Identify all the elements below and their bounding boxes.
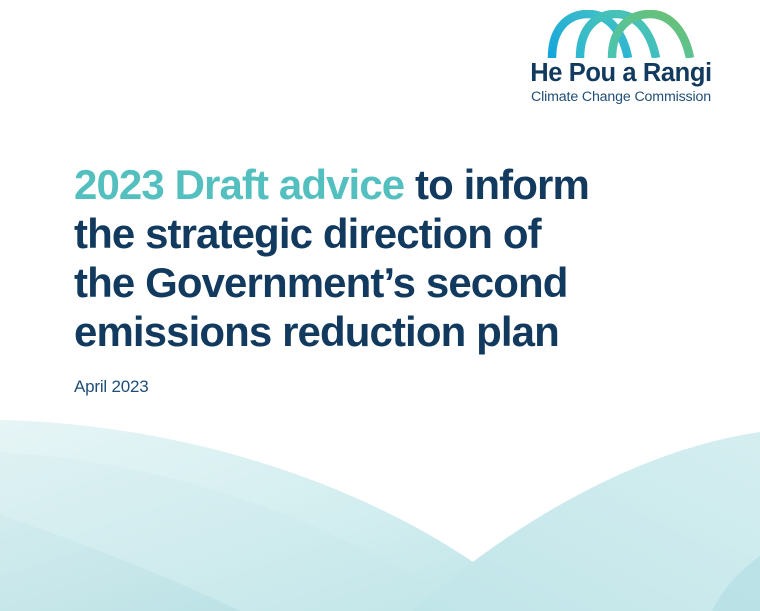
three-arcs-icon xyxy=(546,10,696,58)
page-title: 2023 Draft advice to inform the strategi… xyxy=(74,160,694,356)
wave-layer-1 xyxy=(0,420,560,611)
wave-layer-5 xyxy=(712,556,760,611)
wave-layer-4 xyxy=(412,432,760,611)
logo-wordmark: He Pou a Rangi xyxy=(526,60,716,88)
title-line-1-rest: to inform xyxy=(404,161,589,208)
title-accent-text: 2023 Draft advice xyxy=(74,161,404,208)
title-line-3: the Government’s second xyxy=(74,258,694,307)
organisation-logo: He Pou a Rangi Climate Change Commission xyxy=(526,10,716,106)
title-line-2: the strategic direction of xyxy=(74,209,694,258)
document-cover-page: He Pou a Rangi Climate Change Commission… xyxy=(0,0,760,611)
publication-date: April 2023 xyxy=(74,377,149,397)
title-line-4: emissions reduction plan xyxy=(74,307,694,356)
wave-layer-2 xyxy=(0,452,474,611)
logo-tagline: Climate Change Commission xyxy=(526,89,716,107)
wave-layer-3 xyxy=(0,515,240,611)
title-line-1: 2023 Draft advice to inform xyxy=(74,160,694,209)
